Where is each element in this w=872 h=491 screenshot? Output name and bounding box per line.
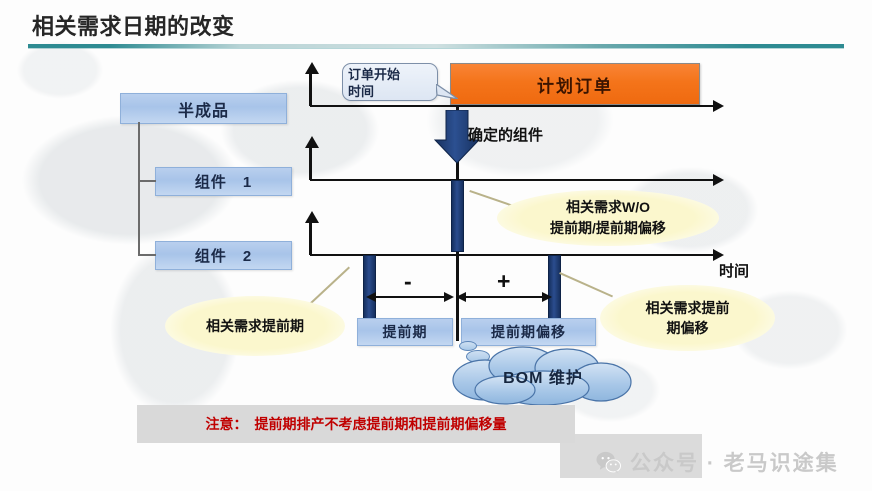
callout-dependent-requirement-offset: 相关需求提前 期偏移 [600,285,775,351]
header-divider-shadow [28,48,844,49]
axis-1-up-arrow-icon [305,62,319,74]
label-box-lead-time-offset: 提前期偏移 [461,318,596,346]
measure-offset-arrow-left-icon [456,292,466,302]
wechat-icon [596,450,621,475]
slide-canvas: 相关需求日期的改变 半成品 组件 1 组件 2 计划订单 订单开始 时间 [0,0,872,491]
bom-node-semi-finished: 半成品 [120,93,287,124]
order-start-callout-line2: 时间 [348,83,432,100]
callout-tail-icon [436,84,458,99]
order-start-callout: 订单开始 时间 [342,63,438,101]
bom-tree-connector-vertical [138,122,140,255]
callout-leader-leadtime [309,267,350,306]
callout-offset-line2: 期偏移 [646,318,730,338]
fixed-component-label: 确定的组件 [468,124,543,145]
sign-minus-label: - [404,268,412,295]
planned-order-bar: 计划订单 [450,63,700,105]
marker-center [451,180,464,252]
axis-3-up-arrow-shaft [309,221,312,255]
timeline-axis-2 [310,179,715,181]
callout-dependent-requirement-lead-time: 相关需求提前期 [165,296,345,356]
bom-tree-connector-branch-1 [138,180,156,182]
marker-offset-end [548,255,561,319]
marker-lead-time-start [363,255,376,319]
bom-node-component-2: 组件 2 [155,241,292,270]
timeline-axis-2-arrowhead-icon [713,174,724,186]
axis-time-label: 时间 [719,260,749,281]
note-text: 注意： 提前期排产不考虑提前期和提前期偏移量 [137,405,575,443]
axis-2-up-arrow-icon [305,136,319,148]
callout-leader-offset [559,272,613,297]
callout-wo-line2: 提前期/提前期偏移 [550,218,666,239]
measure-lead-time-line [374,296,452,298]
axis-3-up-arrow-icon [305,211,319,223]
order-start-callout-line1: 订单开始 [348,66,432,83]
timeline-axis-1-arrowhead-icon [713,100,724,112]
callout-wo-line1: 相关需求W/O [550,197,666,218]
label-box-lead-time: 提前期 [357,318,453,346]
measure-lead-time-arrow-right-icon [444,292,454,302]
axis-2-up-arrow-shaft [309,146,312,180]
watermark: 公众号 · 老马识途集 [596,447,839,477]
measure-offset-arrow-right-icon [542,292,552,302]
watermark-text: 公众号 · 老马识途集 [630,447,839,477]
callout-dependent-requirement-wo: 相关需求W/O 提前期/提前期偏移 [497,190,719,246]
sign-plus-label: + [497,268,510,295]
page-title: 相关需求日期的改变 [32,9,235,41]
bom-node-component-1: 组件 1 [155,167,292,196]
timeline-axis-1 [310,105,715,107]
axis-1-up-arrow-shaft [309,72,312,106]
bom-tree-connector-branch-2 [138,254,156,256]
bom-maintenance-label: BOM 维护 [443,364,643,388]
callout-offset-line1: 相关需求提前 [646,298,730,318]
measure-lead-time-arrow-left-icon [366,292,376,302]
measure-offset-line [464,296,550,298]
